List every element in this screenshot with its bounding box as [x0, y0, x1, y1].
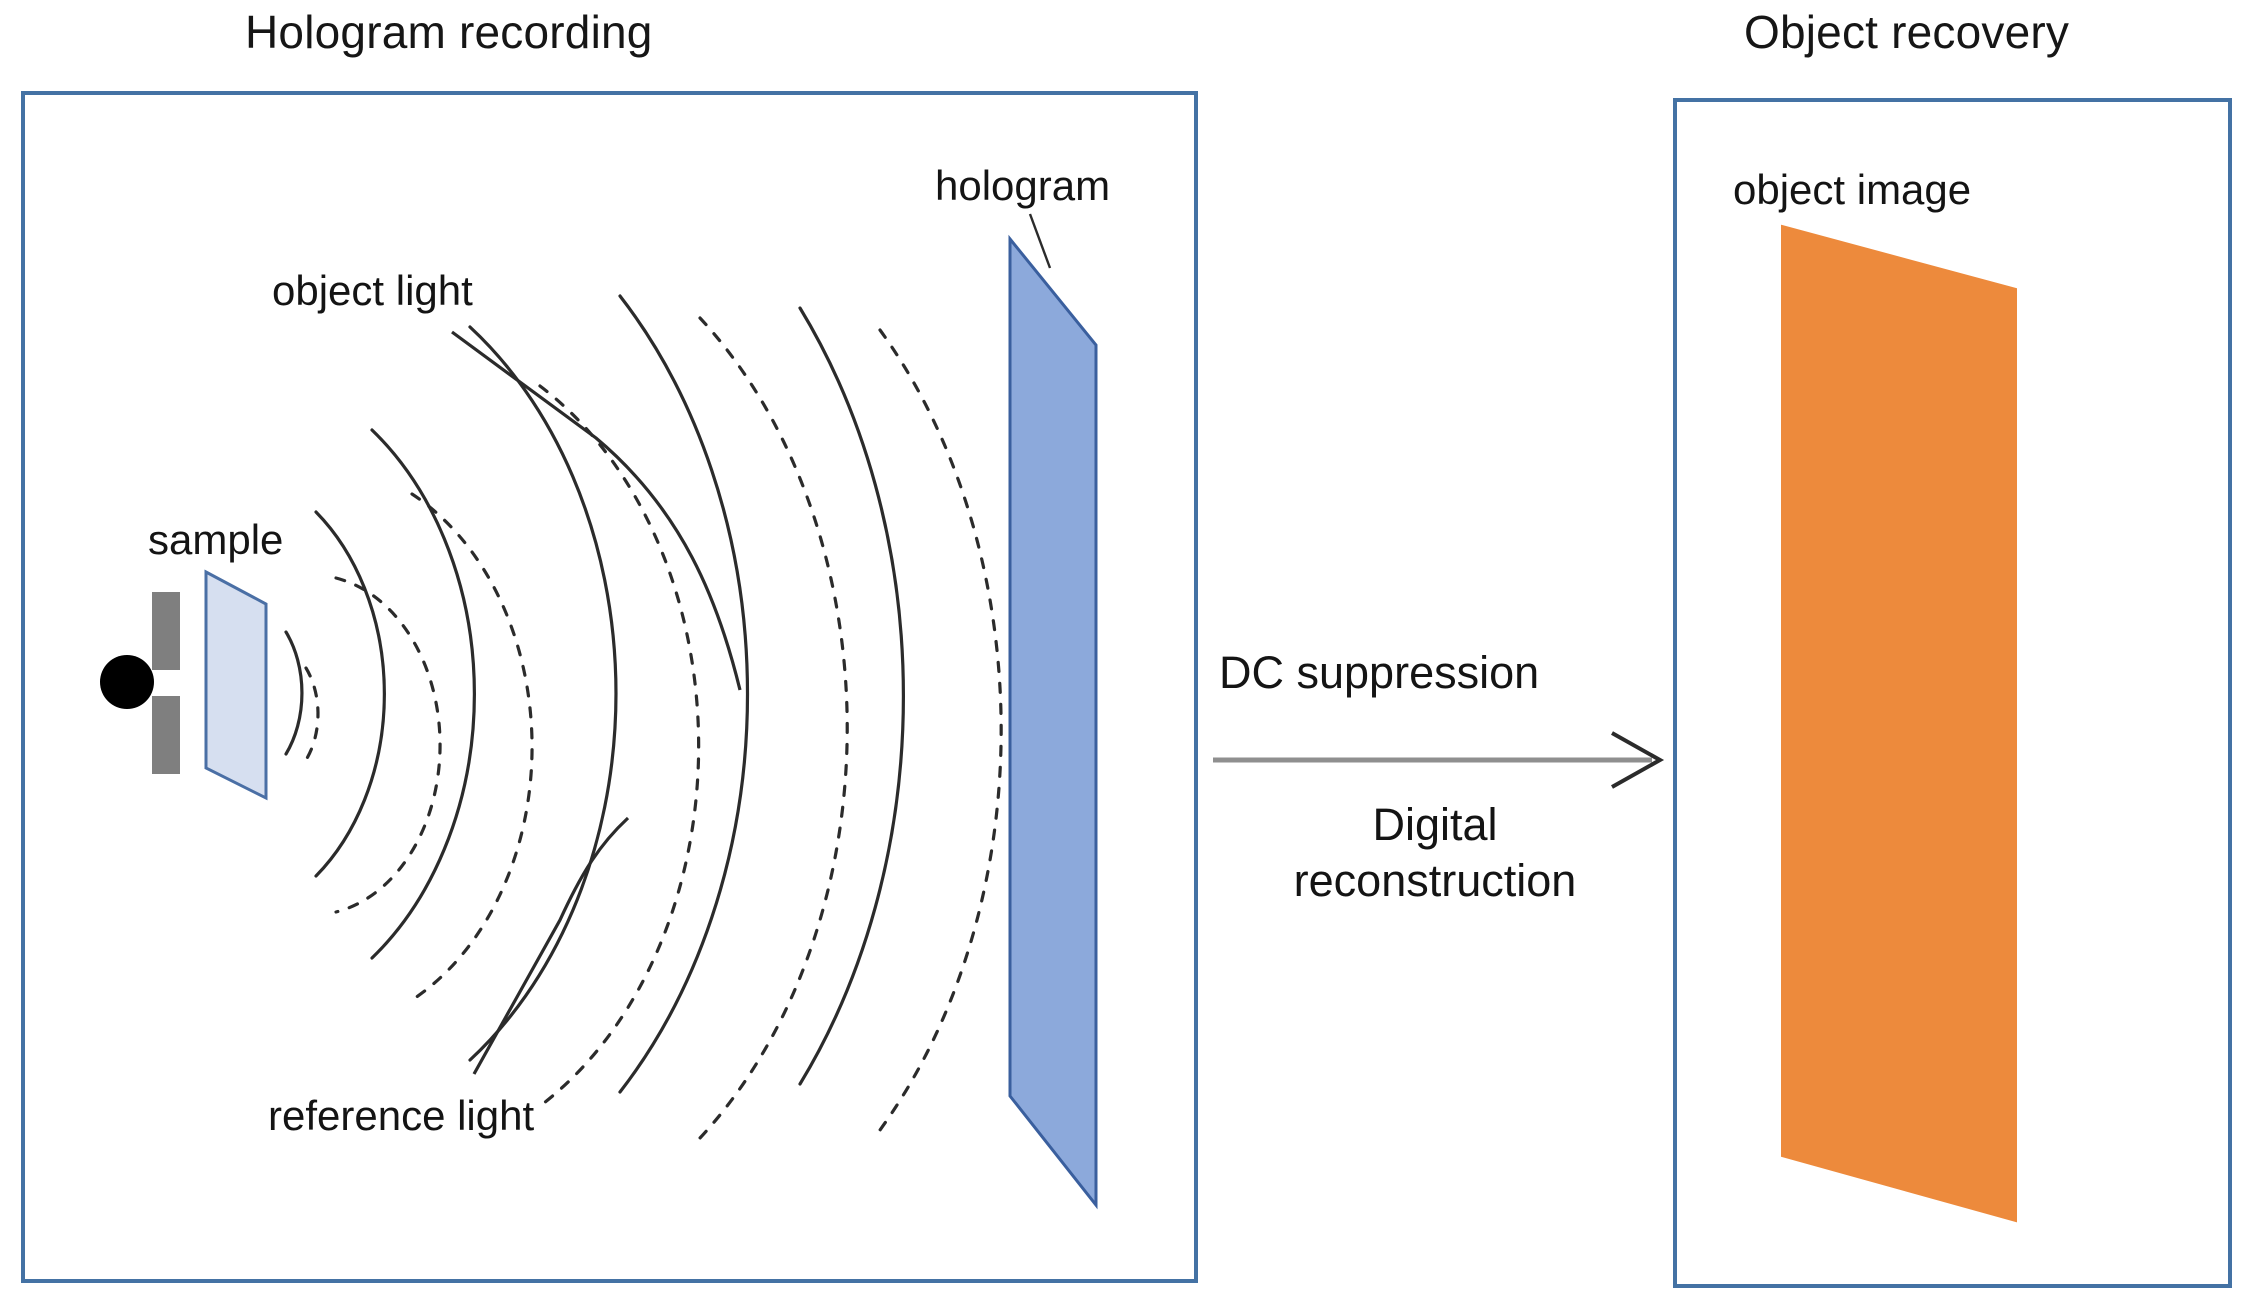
object-light-leader-line — [452, 332, 740, 690]
label-sample: sample — [148, 517, 283, 563]
hologram-plate — [1010, 239, 1096, 1205]
aperture-bar-upper-icon — [152, 592, 180, 670]
sample-plane — [206, 572, 266, 798]
object-light-wavefronts — [286, 296, 903, 1092]
aperture-bar-lower-icon — [152, 696, 180, 774]
reference-light-wavefronts — [306, 318, 1001, 1138]
label-object-light: object light — [272, 268, 473, 314]
process-arrow-caption-below: Digital reconstruction — [1225, 797, 1645, 909]
label-object-image: object image — [1733, 167, 1971, 213]
label-reference-light: reference light — [268, 1093, 534, 1139]
reference-light-leader-line — [474, 818, 628, 1074]
figure-canvas: Hologram recording Object recovery — [0, 0, 2248, 1304]
hologram-leader-line — [1030, 214, 1050, 268]
point-source-dot — [100, 655, 154, 709]
process-arrow-caption-above: DC suppression — [1219, 645, 1539, 701]
label-hologram: hologram — [935, 163, 1110, 209]
object-image-plane — [1782, 226, 2016, 1221]
